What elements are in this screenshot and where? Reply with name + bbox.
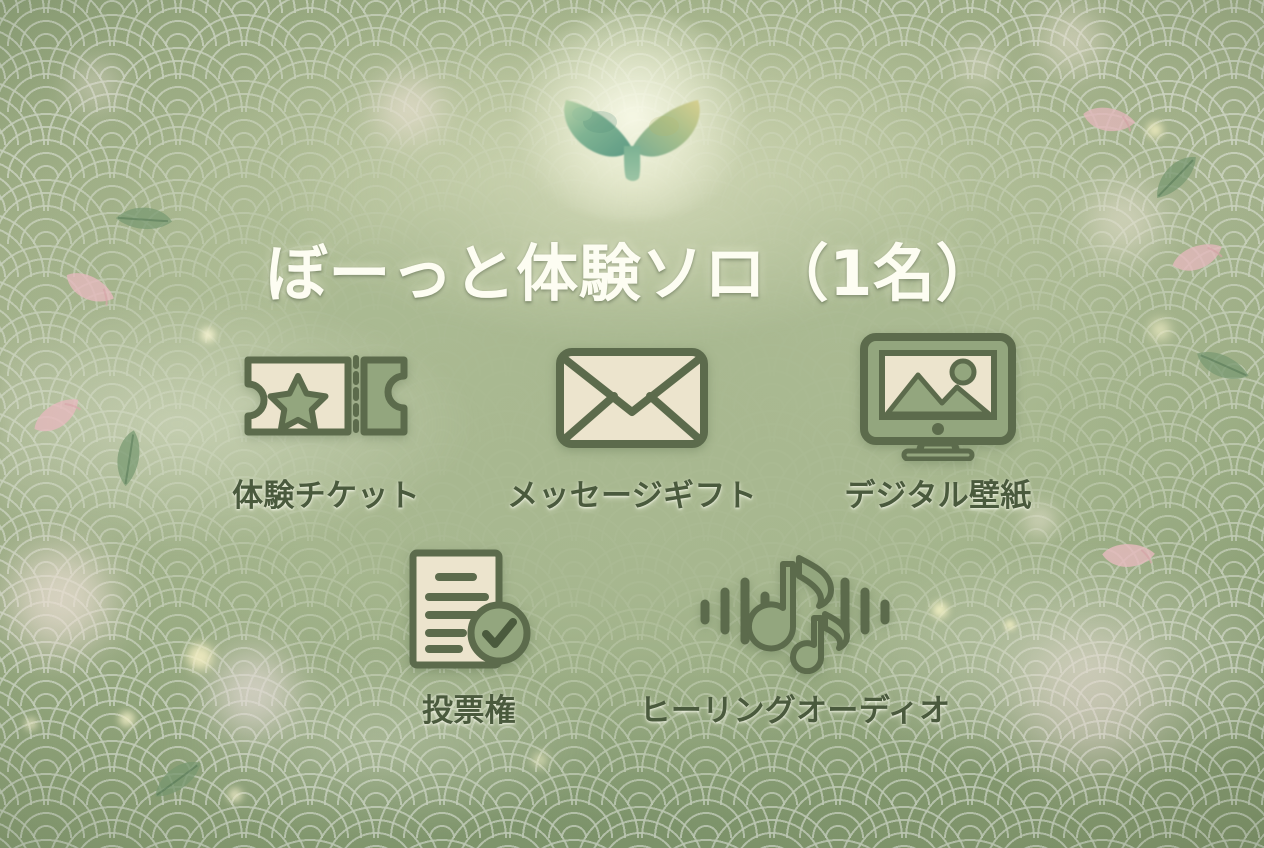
perks-row-1: 体験チケット メッセージギフト bbox=[132, 336, 1132, 515]
perk-label: メッセージギフト bbox=[507, 470, 757, 515]
perk-digital-wallpaper: デジタル壁紙 bbox=[823, 336, 1053, 515]
card-content: ぼーっと体験ソロ（1名） bbox=[0, 0, 1264, 848]
perk-healing-audio: ヒーリングオーディオ bbox=[680, 551, 910, 730]
monitor-base bbox=[904, 451, 972, 459]
sprout-icon bbox=[544, 48, 720, 184]
envelope-body bbox=[560, 352, 704, 444]
perk-label: デジタル壁紙 bbox=[844, 470, 1031, 515]
promo-card: ぼーっと体験ソロ（1名） bbox=[0, 0, 1264, 848]
perks-grid: 体験チケット メッセージギフト bbox=[132, 336, 1132, 730]
perk-message-gift: メッセージギフト bbox=[517, 336, 747, 515]
ticket-star-icon bbox=[236, 336, 416, 456]
perk-label: ヒーリングオーディオ bbox=[640, 685, 951, 730]
monitor-power-dot bbox=[932, 423, 944, 435]
perk-label: 体験チケット bbox=[232, 470, 420, 515]
document-check-icon bbox=[401, 551, 537, 671]
sprout-stem bbox=[624, 146, 640, 181]
sprout-logo bbox=[542, 46, 722, 186]
envelope-icon bbox=[552, 336, 712, 456]
perk-label: 投票権 bbox=[422, 685, 516, 730]
perk-ticket: 体験チケット bbox=[211, 336, 441, 515]
music-note-waveform-icon bbox=[697, 551, 893, 671]
page-title: ぼーっと体験ソロ（1名） bbox=[0, 238, 1264, 309]
monitor-image-icon bbox=[856, 336, 1020, 456]
perk-voting-right: 投票権 bbox=[354, 551, 584, 730]
music-notes bbox=[749, 558, 847, 671]
ticket-stub bbox=[364, 360, 404, 432]
screen-sun bbox=[952, 361, 974, 383]
perks-row-2: 投票権 bbox=[132, 551, 1132, 730]
